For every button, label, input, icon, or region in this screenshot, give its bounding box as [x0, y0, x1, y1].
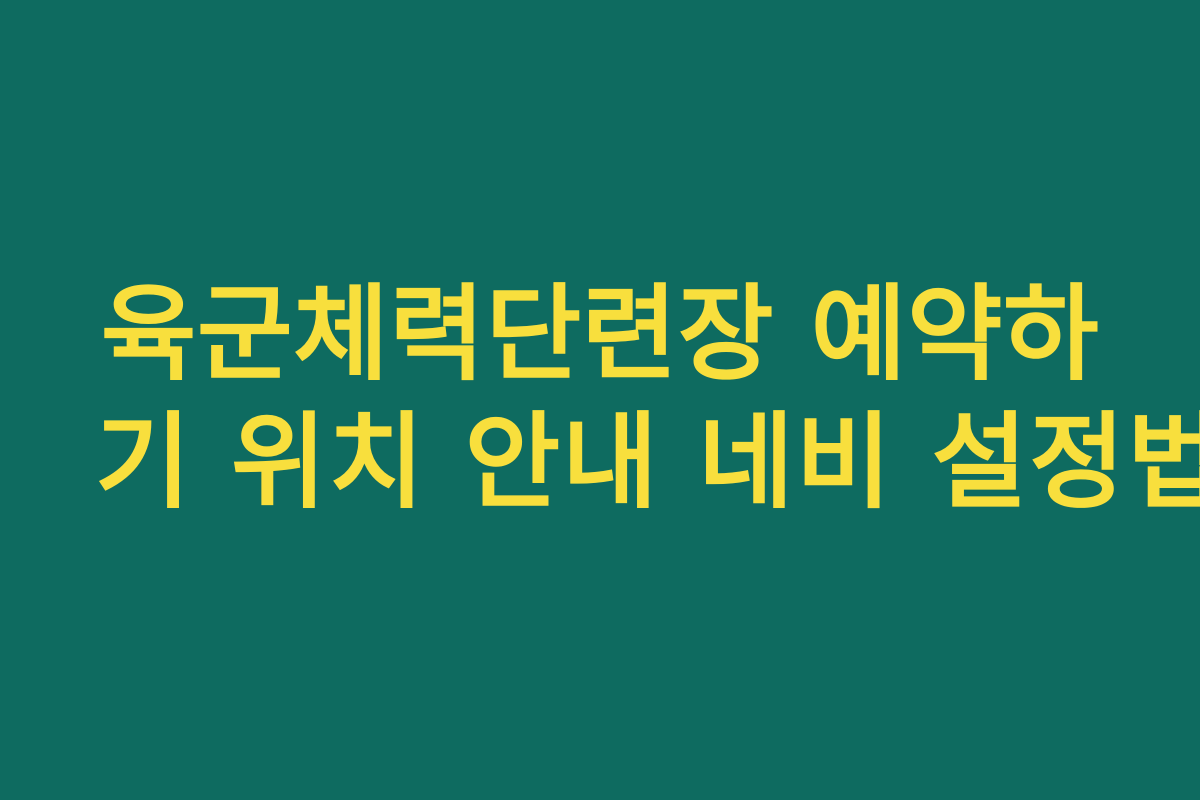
headline-line-1: 육군체력단련장 예약하 [95, 270, 1105, 398]
headline: 육군체력단련장 예약하 기 위치 안내 네비 설정법 [95, 270, 1105, 526]
headline-line-2: 기 위치 안내 네비 설정법 [95, 398, 1105, 526]
thumbnail-canvas: 육군체력단련장 예약하 기 위치 안내 네비 설정법 [0, 0, 1200, 800]
